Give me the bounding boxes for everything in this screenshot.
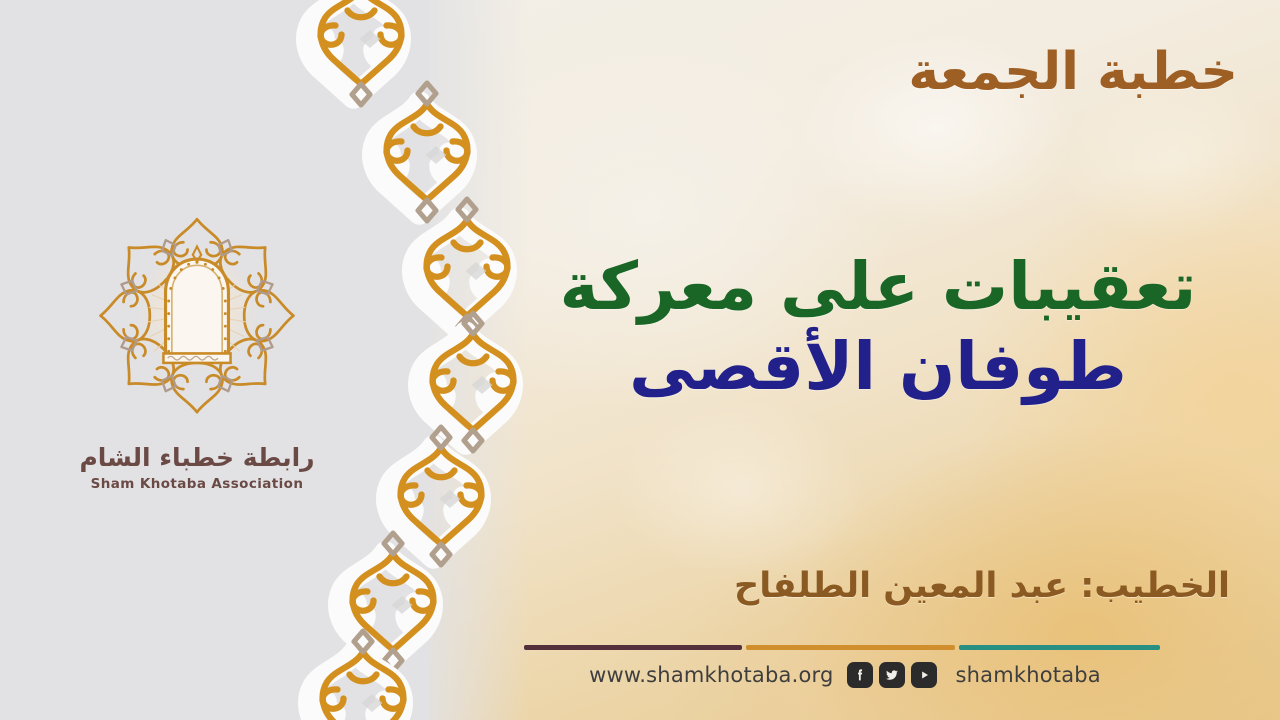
divider-segment-teal (959, 645, 1160, 650)
youtube-icon[interactable] (911, 662, 937, 688)
association-logo: رابطة خطباء الشام Sham Khotaba Associati… (72, 215, 322, 492)
divider-segment-maroon (524, 645, 742, 650)
facebook-icon[interactable] (847, 662, 873, 688)
website-url[interactable]: www.shamkhotaba.org (589, 663, 833, 687)
title-line-1: تعقيبات على معركة (518, 250, 1238, 324)
sermon-poster: رابطة خطباء الشام Sham Khotaba Associati… (0, 0, 1280, 720)
title-line-2: طوفان الأقصى (518, 330, 1238, 404)
speaker-name: الخطيب: عبد المعين الطلفاح (734, 566, 1230, 606)
logo-name-english: Sham Khotaba Association (72, 476, 322, 492)
footer-bar: www.shamkhotaba.org shamkhotaba (520, 655, 1170, 695)
social-handle[interactable]: shamkhotaba (955, 663, 1100, 687)
sermon-title: تعقيبات على معركة طوفان الأقصى (518, 250, 1238, 404)
divider-segment-orange (746, 645, 955, 650)
mihrab-rosette-logo-icon (92, 215, 302, 430)
background-blend-seam (380, 0, 530, 720)
twitter-icon[interactable] (879, 662, 905, 688)
kicker-friday-sermon: خطبة الجمعة (908, 42, 1238, 102)
logo-name-arabic: رابطة خطباء الشام (72, 444, 322, 472)
social-links (847, 662, 937, 688)
